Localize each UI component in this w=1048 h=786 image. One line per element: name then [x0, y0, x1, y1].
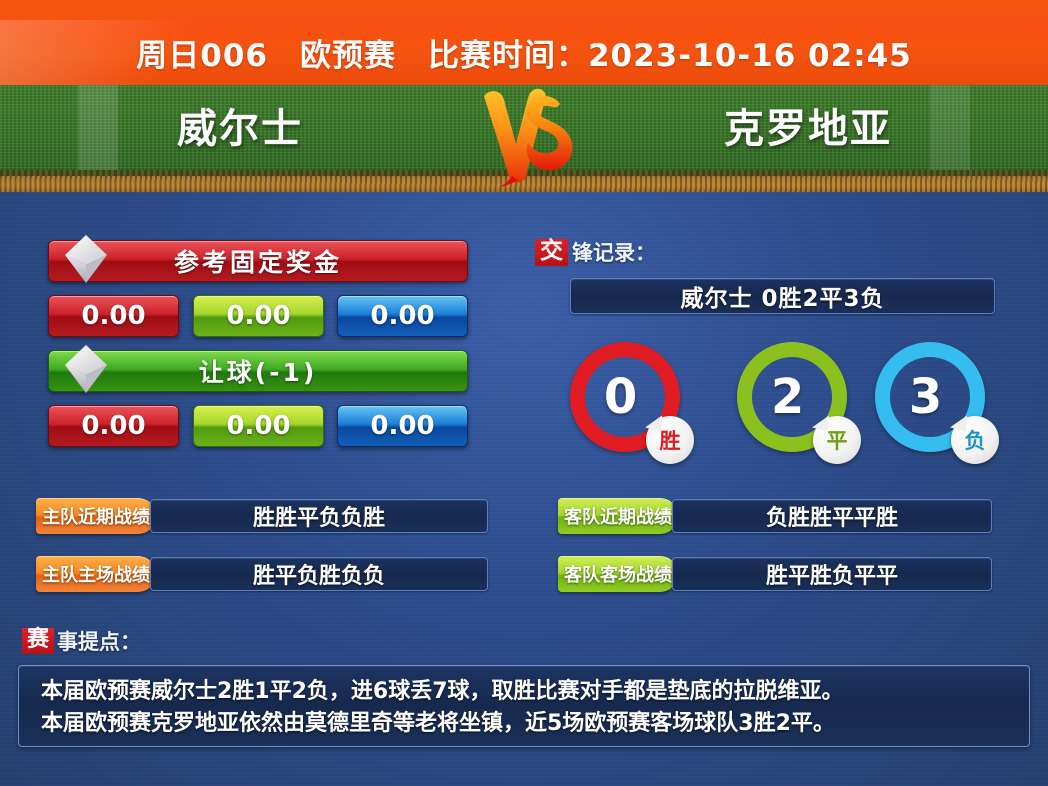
top-strip	[0, 0, 1048, 20]
h2h-summary: 威尔士 0胜2平3负	[570, 278, 995, 314]
fixed-odds-draw[interactable]: 0.00	[193, 295, 324, 337]
notes-line-1: 本届欧预赛威尔士2胜1平2负，进6球丢7球，取胜比赛对手都是垫底的拉脱维亚。	[41, 676, 1007, 708]
handicap-odds-win-value: 0.00	[81, 411, 145, 441]
handicap-header: 让球(-1)	[48, 350, 468, 392]
match-preview-card: 周日006 欧预赛 比赛时间：2023-10-16 02:45 威尔士 克罗地亚	[0, 0, 1048, 786]
away-team-name: 克罗地亚	[568, 96, 1048, 154]
notes-section-title: 赛 事提点：	[22, 626, 141, 656]
fixed-odds-win-value: 0.00	[81, 301, 145, 331]
handicap-odds-lose-value: 0.00	[370, 411, 434, 441]
h2h-section-title: 交 锋记录：	[535, 237, 656, 267]
diamond-icon-2	[63, 343, 109, 395]
h2h-ring-lose-value: 3	[909, 369, 942, 425]
fixed-odds-lose[interactable]: 0.00	[337, 295, 468, 337]
fixed-odds-header: 参考固定奖金	[48, 240, 468, 282]
stats-board: 参考固定奖金 0.00 0.00 0.00 让球(-1) 0.00 0.00 0…	[0, 192, 1048, 786]
h2h-ring-win-badge: 胜	[646, 416, 694, 464]
home-recent-form-value: 胜胜平负负胜	[253, 500, 385, 532]
handicap-header-label: 让球(-1)	[199, 353, 318, 389]
notes-box: 本届欧预赛威尔士2胜1平2负，进6球丢7球，取胜比赛对手都是垫底的拉脱维亚。 本…	[18, 665, 1030, 747]
h2h-ring-lose-badge: 负	[951, 416, 999, 464]
away-recent-form-tag: 客队近期战绩	[558, 498, 678, 534]
fixed-odds-draw-value: 0.00	[226, 301, 290, 331]
home-venue-form-value: 胜平负胜负负	[253, 558, 385, 590]
h2h-ring-win-value: 0	[604, 369, 637, 425]
vs-icon	[468, 82, 580, 192]
away-venue-form-value-box: 胜平胜负平平	[672, 557, 992, 591]
h2h-ring-win: 0 胜	[570, 342, 680, 452]
away-recent-form-value-box: 负胜胜平平胜	[672, 499, 992, 533]
handicap-odds-win[interactable]: 0.00	[48, 405, 179, 447]
away-venue-form-value: 胜平胜负平平	[766, 558, 898, 590]
home-recent-form-value-box: 胜胜平负负胜	[150, 499, 488, 533]
h2h-title-chip: 交	[535, 239, 568, 266]
home-venue-form-value-box: 胜平负胜负负	[150, 557, 488, 591]
notes-line-2: 本届欧预赛克罗地亚依然由莫德里奇等老将坐镇，近5场欧预赛客场球队3胜2平。	[41, 708, 1007, 740]
h2h-ring-lose: 3 负	[875, 342, 985, 452]
fixed-odds-win[interactable]: 0.00	[48, 295, 179, 337]
diamond-icon	[63, 233, 109, 285]
home-team-name: 威尔士	[0, 96, 480, 154]
fixed-odds-lose-value: 0.00	[370, 301, 434, 331]
h2h-summary-text: 威尔士 0胜2平3负	[680, 279, 884, 313]
away-venue-form-tag: 客队客场战绩	[558, 556, 678, 592]
handicap-odds-draw-value: 0.00	[226, 411, 290, 441]
h2h-ring-draw: 2 平	[737, 342, 847, 452]
home-recent-form-tag: 主队近期战绩	[36, 498, 156, 534]
notes-title-rest: 事提点：	[57, 626, 141, 656]
handicap-odds-lose[interactable]: 0.00	[337, 405, 468, 447]
h2h-ring-draw-value: 2	[771, 369, 804, 425]
home-venue-form-tag: 主队主场战绩	[36, 556, 156, 592]
handicap-odds-draw[interactable]: 0.00	[193, 405, 324, 447]
match-header-bar: 周日006 欧预赛 比赛时间：2023-10-16 02:45	[0, 20, 1048, 85]
away-recent-form-value: 负胜胜平平胜	[766, 500, 898, 532]
h2h-ring-draw-badge: 平	[813, 416, 861, 464]
h2h-title-rest: 锋记录：	[572, 237, 656, 267]
fixed-odds-header-label: 参考固定奖金	[174, 243, 342, 279]
notes-title-chip: 赛	[22, 628, 54, 654]
match-header-text: 周日006 欧预赛 比赛时间：2023-10-16 02:45	[136, 30, 911, 75]
